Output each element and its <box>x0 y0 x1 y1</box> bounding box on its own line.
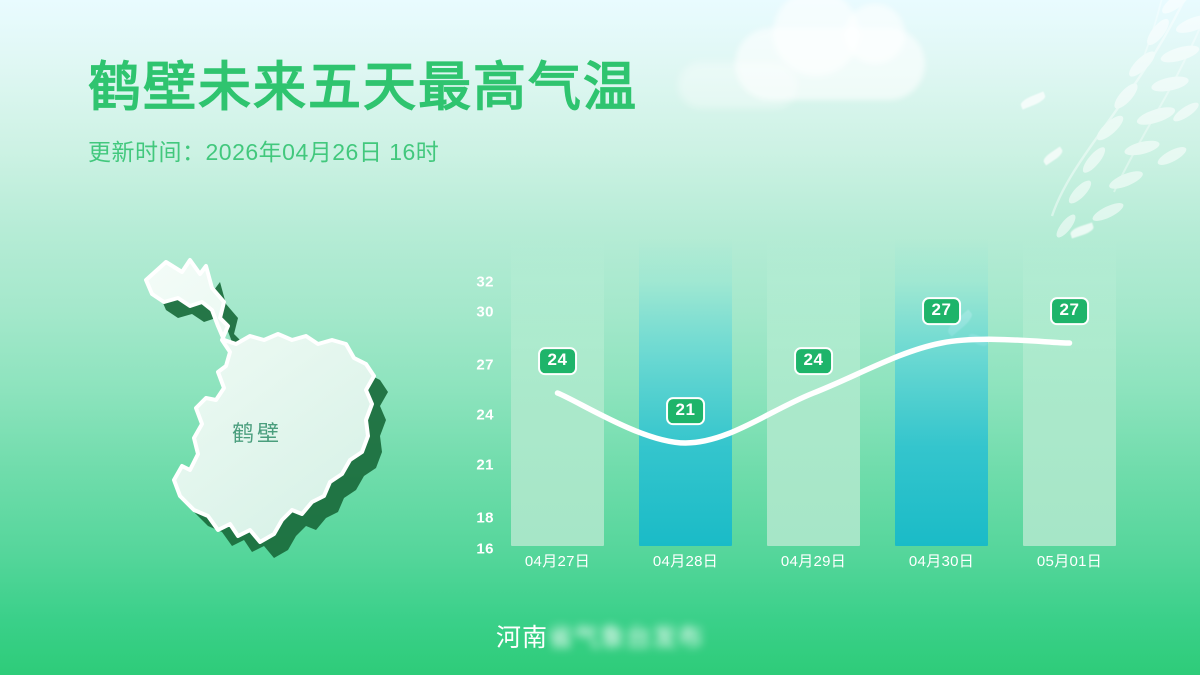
value-badge: 27 <box>922 297 962 325</box>
y-axis: 32302724211816 <box>460 250 494 550</box>
update-timestamp: 更新时间：2026年04月26日 16时 <box>88 133 638 167</box>
floating-leaf-icon <box>1042 147 1065 166</box>
y-axis-tick: 27 <box>460 357 494 374</box>
region-map: 鹤壁 <box>78 248 418 578</box>
footer-source: 河南省气象台发布 <box>0 618 1200 654</box>
y-axis-tick: 16 <box>460 541 494 558</box>
header: 鹤壁未来五天最高气温 更新时间：2026年04月26日 16时 <box>88 58 638 167</box>
footer-text-censored: 省气象台发布 <box>548 624 704 652</box>
footer-text-visible: 河南 <box>496 624 548 652</box>
y-axis-tick: 30 <box>460 304 494 321</box>
value-badge: 21 <box>666 397 706 425</box>
x-axis-tick: 04月29日 <box>781 550 846 571</box>
y-axis-tick: 24 <box>460 407 494 424</box>
x-axis-tick: 05月01日 <box>1037 550 1102 571</box>
value-badge: 24 <box>794 347 834 375</box>
page-title: 鹤壁未来五天最高气温 <box>88 58 638 119</box>
x-axis: 04月27日04月28日04月29日04月30日05月01日 <box>511 550 1140 580</box>
temperature-chart: 32302724211816 2421242727 04月27日04月28日04… <box>460 250 1140 570</box>
cloud-icon <box>735 28 925 100</box>
y-axis-tick: 21 <box>460 457 494 474</box>
hebi-map-icon <box>78 248 418 578</box>
y-axis-tick: 18 <box>460 510 494 527</box>
cloud-icon-secondary <box>678 62 798 108</box>
floating-leaf-icon <box>1019 91 1046 109</box>
x-axis-tick: 04月30日 <box>909 550 974 571</box>
x-axis-tick: 04月28日 <box>653 550 718 571</box>
value-badge: 27 <box>1050 297 1090 325</box>
x-axis-tick: 04月27日 <box>525 550 590 571</box>
value-badge: 24 <box>538 347 578 375</box>
plot-area: 2421242727 <box>511 238 1140 546</box>
map-region-label: 鹤壁 <box>78 416 418 448</box>
y-axis-tick: 32 <box>460 274 494 291</box>
